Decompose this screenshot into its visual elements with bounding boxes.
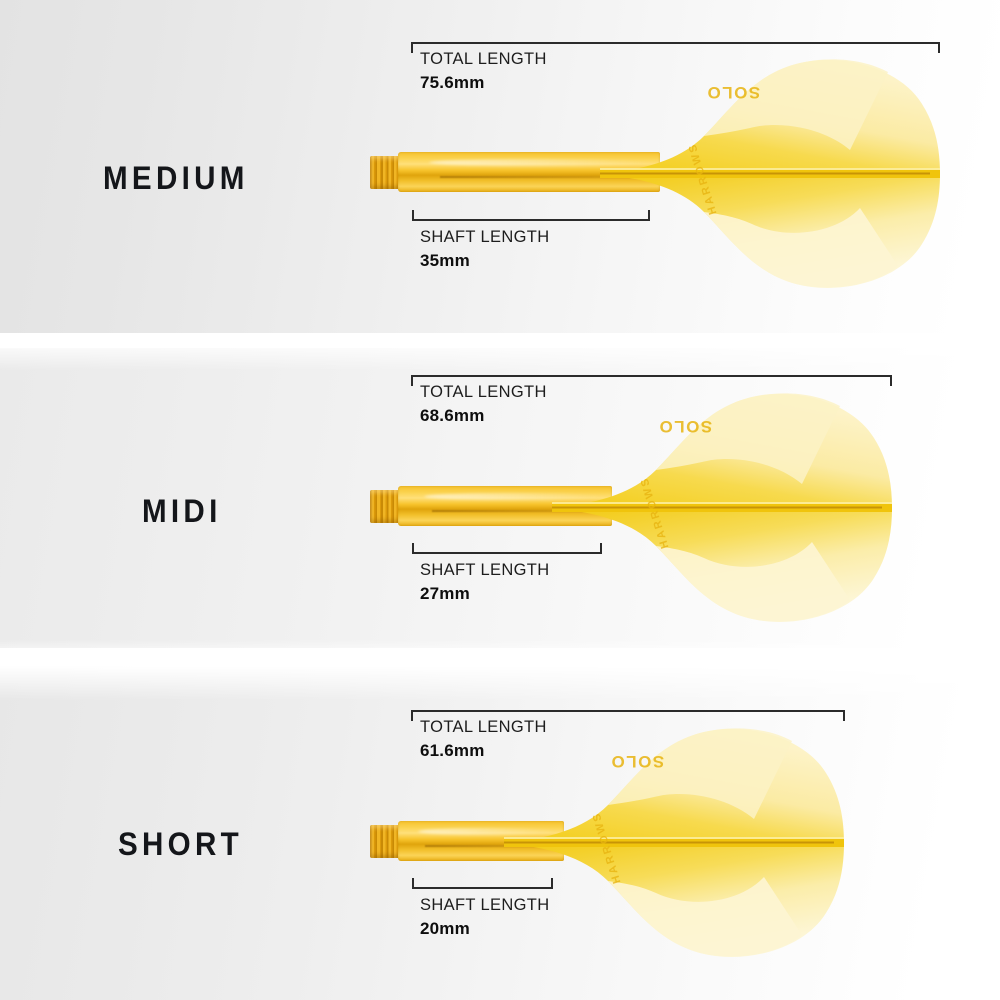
shaft-length-callout-medium: SHAFT LENGTH 35mm [420, 228, 550, 271]
shaft-length-title: SHAFT LENGTH [420, 561, 550, 580]
size-row-short: SHORT TOTAL LENGTH 61.6mm SHAFT LENGTH 2… [0, 666, 1000, 1000]
flight-spine-highlight [504, 837, 844, 839]
bracket-tick-left [411, 375, 413, 386]
flight-shape-svg [600, 58, 940, 290]
total-length-title: TOTAL LENGTH [420, 50, 547, 69]
bracket-tick-left [411, 42, 413, 53]
size-row-midi: MIDI TOTAL LENGTH 68.6mm SHAFT LENGTH 27… [0, 348, 1000, 648]
size-label-midi: MIDI [142, 494, 222, 531]
bracket-tick-right [938, 42, 940, 53]
flight-spine-line [552, 507, 882, 509]
total-length-title: TOTAL LENGTH [420, 383, 547, 402]
size-row-medium: MEDIUM TOTAL LENGTH 75.6mm SHAFT LENGTH … [0, 0, 1000, 333]
shaft-length-title: SHAFT LENGTH [420, 228, 550, 247]
size-label-short: SHORT [118, 827, 243, 864]
bracket-tick-left [411, 710, 413, 721]
shaft-length-callout-midi: SHAFT LENGTH 27mm [420, 561, 550, 604]
dart-flight-midi: SOLO HARROWS [552, 392, 892, 624]
flight-brand-solo-midi: SOLO [658, 416, 712, 436]
total-length-value: 75.6mm [420, 73, 547, 93]
flight-shape-svg [552, 392, 892, 624]
shaft-length-value: 27mm [420, 584, 550, 604]
flight-brand-solo-short: SOLO [610, 751, 664, 771]
flight-spine-highlight [600, 168, 940, 170]
flight-spine-line [600, 173, 930, 175]
bracket-bar [411, 710, 845, 712]
total-length-value: 68.6mm [420, 406, 547, 426]
flight-brand-solo-medium: SOLO [706, 82, 760, 102]
bracket-tick-left [412, 543, 414, 554]
dart-flight-short: SOLO HARROWS [504, 727, 844, 959]
bracket-tick-right [890, 375, 892, 386]
product-size-comparison-diagram: MEDIUM TOTAL LENGTH 75.6mm SHAFT LENGTH … [0, 0, 1000, 1000]
bracket-tick-left [412, 210, 414, 221]
bracket-tick-right [843, 710, 845, 721]
flight-spine-highlight [552, 502, 892, 504]
shaft-length-value: 35mm [420, 251, 550, 271]
flight-shape-svg [504, 727, 844, 959]
bracket-tick-left [412, 878, 414, 889]
dart-flight-medium: SOLO HARROWS [600, 58, 940, 290]
total-length-callout-midi: TOTAL LENGTH 68.6mm [420, 383, 547, 426]
bracket-bar [411, 42, 940, 44]
flight-spine-line [504, 842, 834, 844]
size-label-medium: MEDIUM [103, 161, 249, 198]
bracket-bar [411, 375, 892, 377]
total-length-callout-medium: TOTAL LENGTH 75.6mm [420, 50, 547, 93]
